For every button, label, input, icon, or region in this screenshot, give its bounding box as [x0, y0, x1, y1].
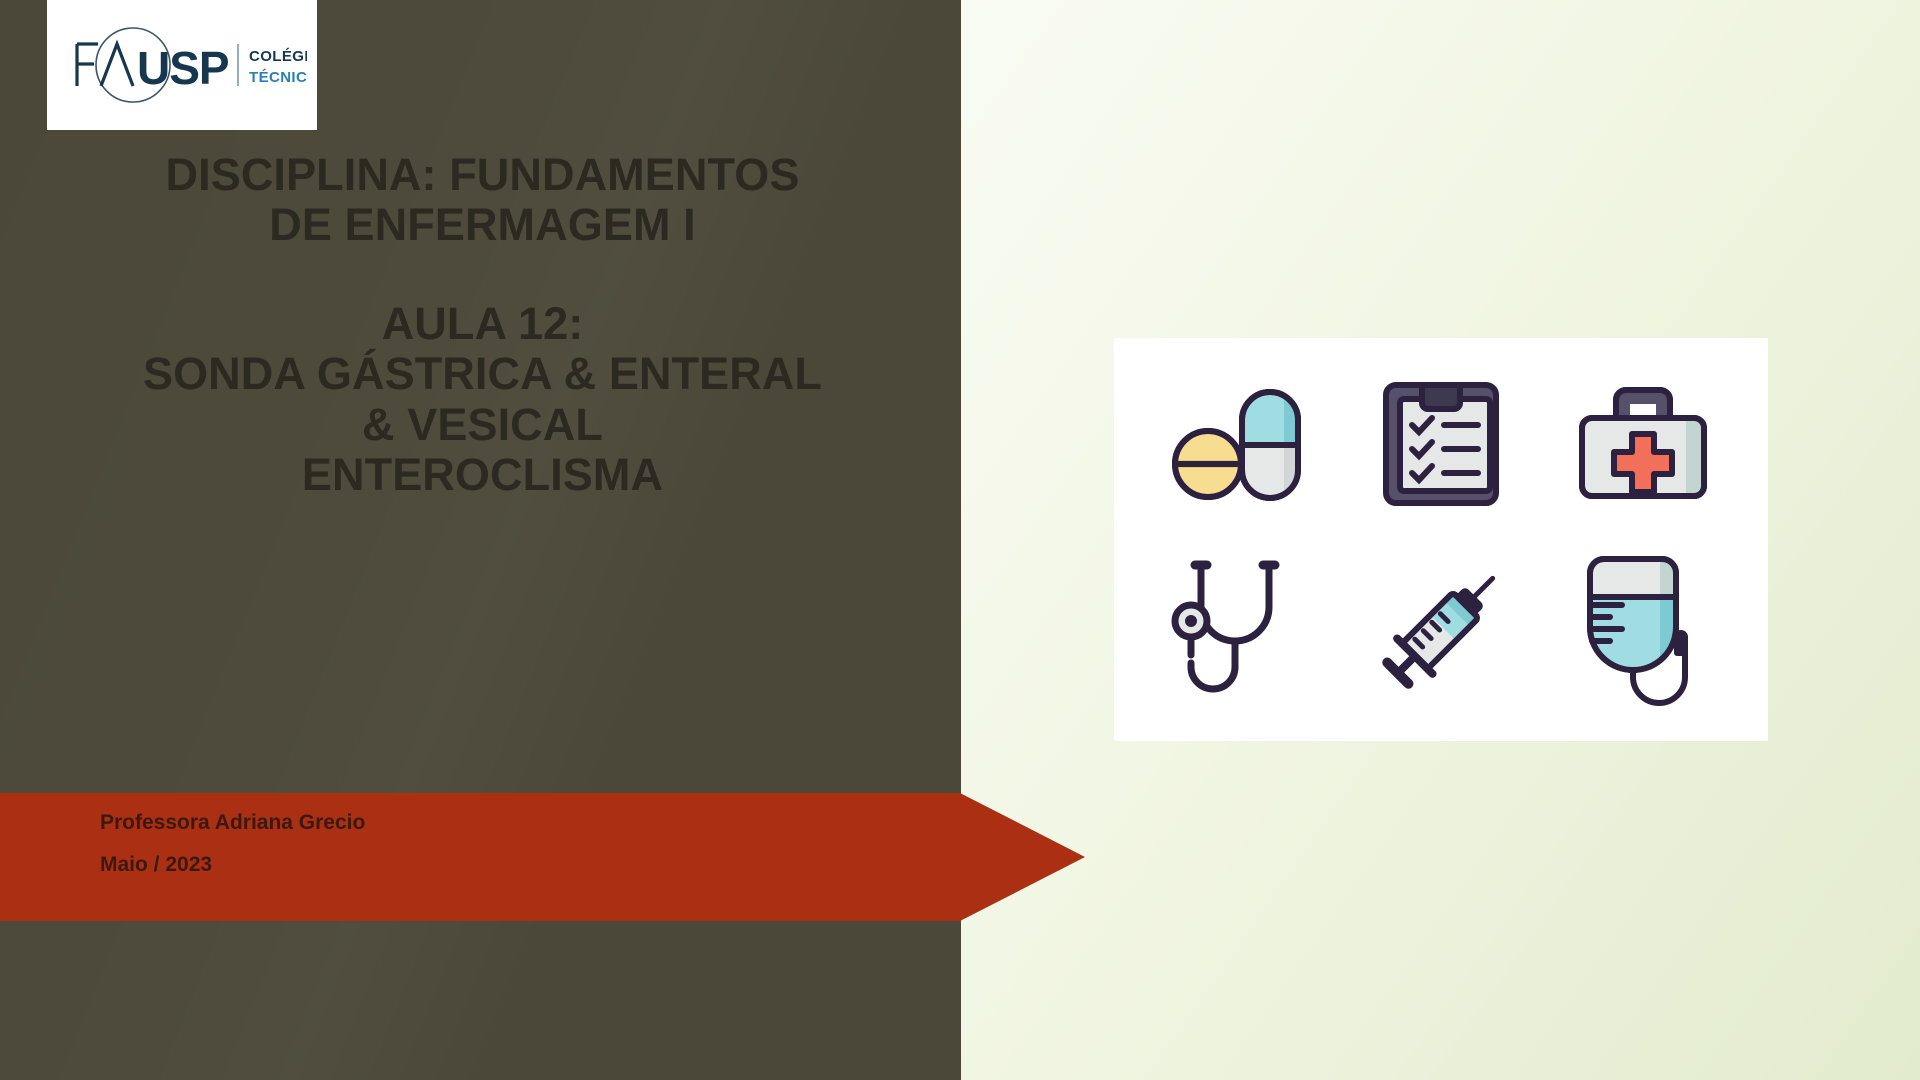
stethoscope-icon	[1167, 555, 1312, 705]
medical-icon-grid	[1114, 338, 1768, 741]
title-line-3: AULA 12:	[60, 299, 905, 349]
clipboard-checklist-icon	[1376, 377, 1506, 512]
svg-text:TÉCNICO: TÉCNICO	[249, 69, 307, 86]
presentation-slide: USP COLÉGIO TÉCNICO DISCIPLINA: FUNDAMEN…	[0, 0, 1920, 1080]
title-line-1: DISCIPLINA: FUNDAMENTOS	[60, 150, 905, 200]
slide-title: DISCIPLINA: FUNDAMENTOS DE ENFERMAGEM I …	[60, 150, 905, 500]
syringe-icon	[1364, 555, 1519, 705]
icon-cell-iv-bag	[1542, 538, 1744, 724]
title-line-5: & VESICAL	[60, 400, 905, 450]
title-line-4: SONDA GÁSTRICA & ENTERAL	[60, 349, 905, 399]
svg-text:USP: USP	[137, 42, 229, 94]
icon-cell-clipboard	[1340, 352, 1542, 538]
iv-bag-icon	[1568, 553, 1718, 708]
fausp-logo: USP COLÉGIO TÉCNICO	[47, 0, 317, 130]
presentation-date: Maio / 2023	[100, 854, 800, 875]
title-spacer	[60, 251, 905, 299]
pills-icon	[1164, 380, 1314, 510]
presenter-name: Professora Adriana Grecio	[100, 812, 800, 833]
svg-text:COLÉGIO: COLÉGIO	[249, 48, 307, 65]
fausp-logo-icon: USP COLÉGIO TÉCNICO	[57, 22, 307, 108]
medical-icons-image	[1114, 338, 1768, 741]
title-line-6: ENTEROCLISMA	[60, 450, 905, 500]
icon-cell-stethoscope	[1138, 538, 1340, 724]
icon-cell-syringe	[1340, 538, 1542, 724]
first-aid-kit-icon	[1568, 380, 1718, 510]
subtitle-banner-text: Professora Adriana Grecio Maio / 2023	[100, 812, 800, 875]
icon-cell-pills	[1138, 352, 1340, 538]
title-line-2: DE ENFERMAGEM I	[60, 200, 905, 250]
logo-inner: USP COLÉGIO TÉCNICO	[57, 22, 307, 108]
icon-cell-first-aid	[1542, 352, 1744, 538]
